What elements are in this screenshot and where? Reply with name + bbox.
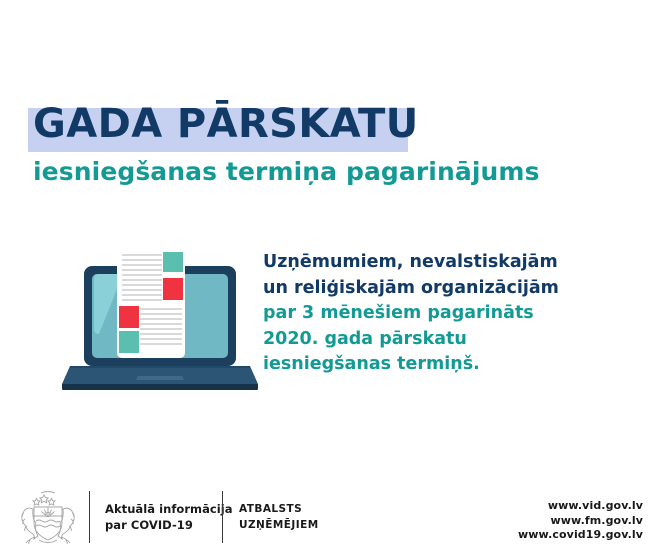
latvian-coat-of-arms-icon xyxy=(17,490,79,545)
footer-links: www.vid.gov.lv www.fm.gov.lv www.covid19… xyxy=(518,499,643,543)
body-copy-block: Uzņēmumiem, nevalstiskajām un reliģiskaj… xyxy=(263,250,643,378)
poster-canvas: { "headline": { "title": "GADA PĀRSKATU"… xyxy=(0,0,660,553)
footer-link-vid[interactable]: www.vid.gov.lv xyxy=(518,499,643,514)
footer-covid-info-line-2: par COVID-19 xyxy=(105,517,233,533)
body-copy-line-3: par 3 mēnešiem pagarināts xyxy=(263,301,643,327)
footer-support-line-1: ATBALSTS xyxy=(239,501,319,517)
footer-link-fm[interactable]: www.fm.gov.lv xyxy=(518,514,643,529)
footer-support-label: ATBALSTS UZŅĒMĒJIEM xyxy=(239,501,319,533)
body-copy-line-4: 2020. gada pārskatu xyxy=(263,327,643,353)
footer-covid-info-line-1: Aktuālā informācija xyxy=(105,501,233,517)
footer-divider-2 xyxy=(222,491,223,543)
body-copy-line-2: un reliģiskajām organizācijām xyxy=(263,276,643,302)
footer-link-covid19[interactable]: www.covid19.gov.lv xyxy=(518,528,643,543)
footer: Aktuālā informācija par COVID-19 ATBALST… xyxy=(0,482,660,553)
page-subtitle: iesniegšanas termiņa pagarinājums xyxy=(33,154,540,190)
page-title: GADA PĀRSKATU xyxy=(33,96,419,152)
footer-covid-info: Aktuālā informācija par COVID-19 xyxy=(105,501,233,533)
laptop-illustration xyxy=(62,238,258,390)
laptop-with-document-icon xyxy=(62,238,258,390)
footer-support-line-2: UZŅĒMĒJIEM xyxy=(239,517,319,533)
footer-divider-1 xyxy=(89,491,90,543)
body-copy-line-1: Uzņēmumiem, nevalstiskajām xyxy=(263,250,643,276)
body-copy-line-5: iesniegšanas termiņš. xyxy=(263,352,643,378)
